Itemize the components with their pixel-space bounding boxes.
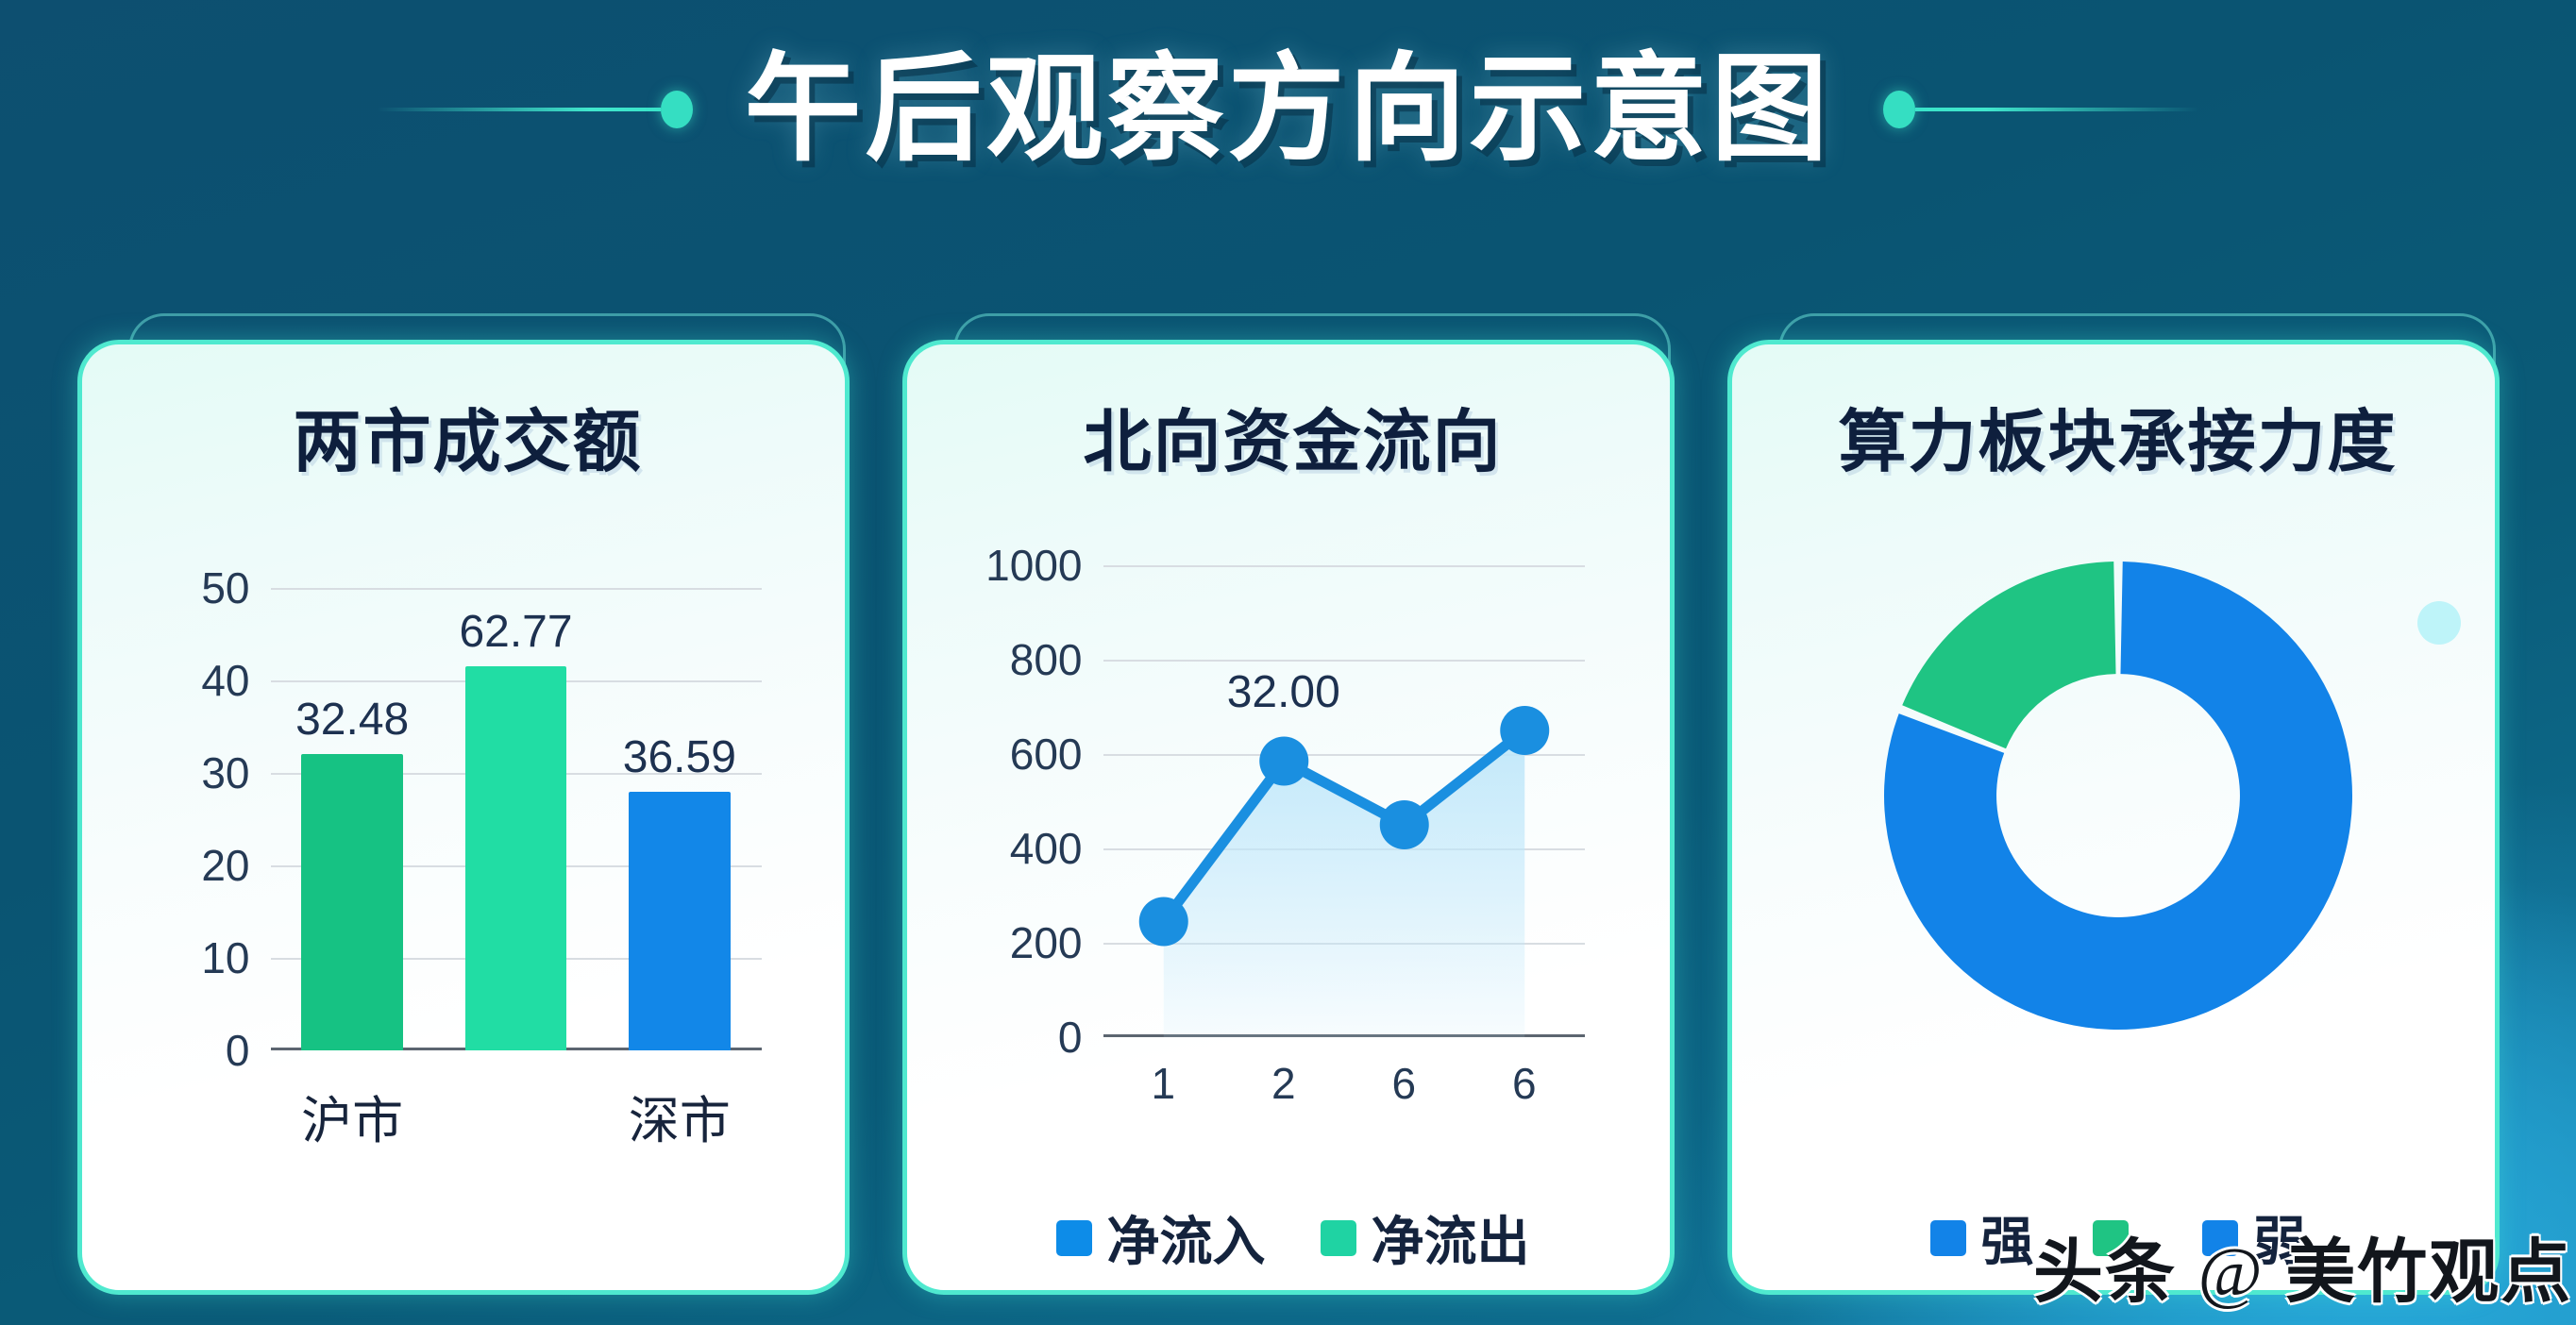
legend-item: 净流出 xyxy=(1321,1199,1530,1276)
x-axis-tick-label: 1 xyxy=(1151,1058,1175,1109)
infographic-canvas: 午后观察方向示意图 两市成交额 5040302010032.4862.7736.… xyxy=(0,0,2576,1325)
legend-swatch xyxy=(1056,1220,1092,1256)
page-title-row: 午后观察方向示意图 xyxy=(0,34,2576,185)
watermark-source: 头条 xyxy=(2033,1233,2177,1311)
y-axis-tick-label: 400 xyxy=(1010,823,1083,874)
y-axis-tick-label: 20 xyxy=(201,840,249,891)
title-accent-dot-right xyxy=(1883,91,1915,128)
legend-swatch xyxy=(1930,1220,1966,1256)
watermark: 头条 @ 美竹观点 xyxy=(2033,1216,2572,1317)
title-accent-dot-left xyxy=(661,91,693,128)
line-data-point xyxy=(1379,800,1428,849)
x-axis-tick-label: 沪市 xyxy=(301,1079,403,1153)
y-axis-tick-label: 600 xyxy=(1010,729,1083,780)
chart-card-line: 北向资金流向 1000800600400200032.001266 净流入净流出 xyxy=(902,328,1675,1300)
line-value-label: 32.00 xyxy=(1227,666,1340,718)
title-accent-line-left xyxy=(378,108,661,111)
bar-1 xyxy=(301,754,402,1050)
line-data-point xyxy=(1500,706,1549,755)
card-title-line: 北向资金流向 xyxy=(907,386,1675,485)
y-axis-tick-label: 200 xyxy=(1010,917,1083,968)
y-axis-tick-label: 50 xyxy=(201,562,249,613)
bar-2 xyxy=(465,666,566,1050)
x-axis-tick-label: 6 xyxy=(1512,1058,1537,1109)
card-title-donut: 算力板块承接力度 xyxy=(1732,386,2500,485)
page-title: 午后观察方向示意图 xyxy=(744,51,1831,168)
chart-card-bar: 两市成交额 5040302010032.4862.7736.59沪市深市 xyxy=(77,328,850,1300)
title-accent-line-right xyxy=(1915,108,2198,111)
y-axis-tick-label: 800 xyxy=(1010,634,1083,685)
line-plot-area: 1000800600400200032.001266 xyxy=(1103,565,1585,1037)
y-axis-tick-label: 40 xyxy=(201,655,249,706)
legend-label: 净流出 xyxy=(1372,1199,1530,1276)
legend-item: 强 xyxy=(1930,1199,2034,1276)
legend-label: 净流入 xyxy=(1107,1199,1266,1276)
donut-slice xyxy=(1902,562,2115,748)
line-series xyxy=(1103,565,1585,1037)
card-body: 北向资金流向 1000800600400200032.001266 净流入净流出 xyxy=(902,340,1675,1295)
y-axis-tick-label: 30 xyxy=(201,747,249,798)
x-axis-tick-label: 深市 xyxy=(629,1079,731,1153)
x-axis-tick-label: 6 xyxy=(1391,1058,1416,1109)
legend-item: 净流入 xyxy=(1056,1199,1266,1276)
y-axis-tick-label: 0 xyxy=(226,1025,250,1076)
watermark-at-icon: @ xyxy=(2198,1234,2265,1312)
legend-label: 强 xyxy=(1981,1199,2034,1276)
donut-svg xyxy=(1873,550,2364,1041)
donut-chart xyxy=(1873,550,2364,1041)
y-axis-tick-label: 1000 xyxy=(985,540,1082,591)
y-axis-tick-label: 10 xyxy=(201,932,249,983)
line-data-point xyxy=(1259,737,1308,786)
x-axis-tick-label: 2 xyxy=(1271,1058,1296,1109)
line-chart-legend: 净流入净流出 xyxy=(907,1199,1675,1276)
legend-swatch xyxy=(1321,1220,1356,1256)
card-title-bar: 两市成交额 xyxy=(82,386,850,485)
card-body: 两市成交额 5040302010032.4862.7736.59沪市深市 xyxy=(77,340,850,1295)
bar-plot-area: 5040302010032.4862.7736.59沪市深市 xyxy=(271,588,762,1050)
decorative-dot xyxy=(2417,601,2461,645)
y-axis-tick-label: 0 xyxy=(1058,1012,1083,1063)
bar-3 xyxy=(629,792,730,1050)
chart-card-row: 两市成交额 5040302010032.4862.7736.59沪市深市 北向资… xyxy=(0,328,2576,1314)
bar-value-label: 62.77 xyxy=(459,606,572,658)
watermark-handle: 美竹观点 xyxy=(2285,1233,2572,1311)
line-data-point xyxy=(1138,897,1187,947)
chart-card-donut: 算力板块承接力度 强弱 xyxy=(1727,328,2500,1300)
bar-value-label: 32.48 xyxy=(295,694,409,746)
card-body: 算力板块承接力度 强弱 xyxy=(1727,340,2500,1295)
bar-value-label: 36.59 xyxy=(623,731,736,783)
